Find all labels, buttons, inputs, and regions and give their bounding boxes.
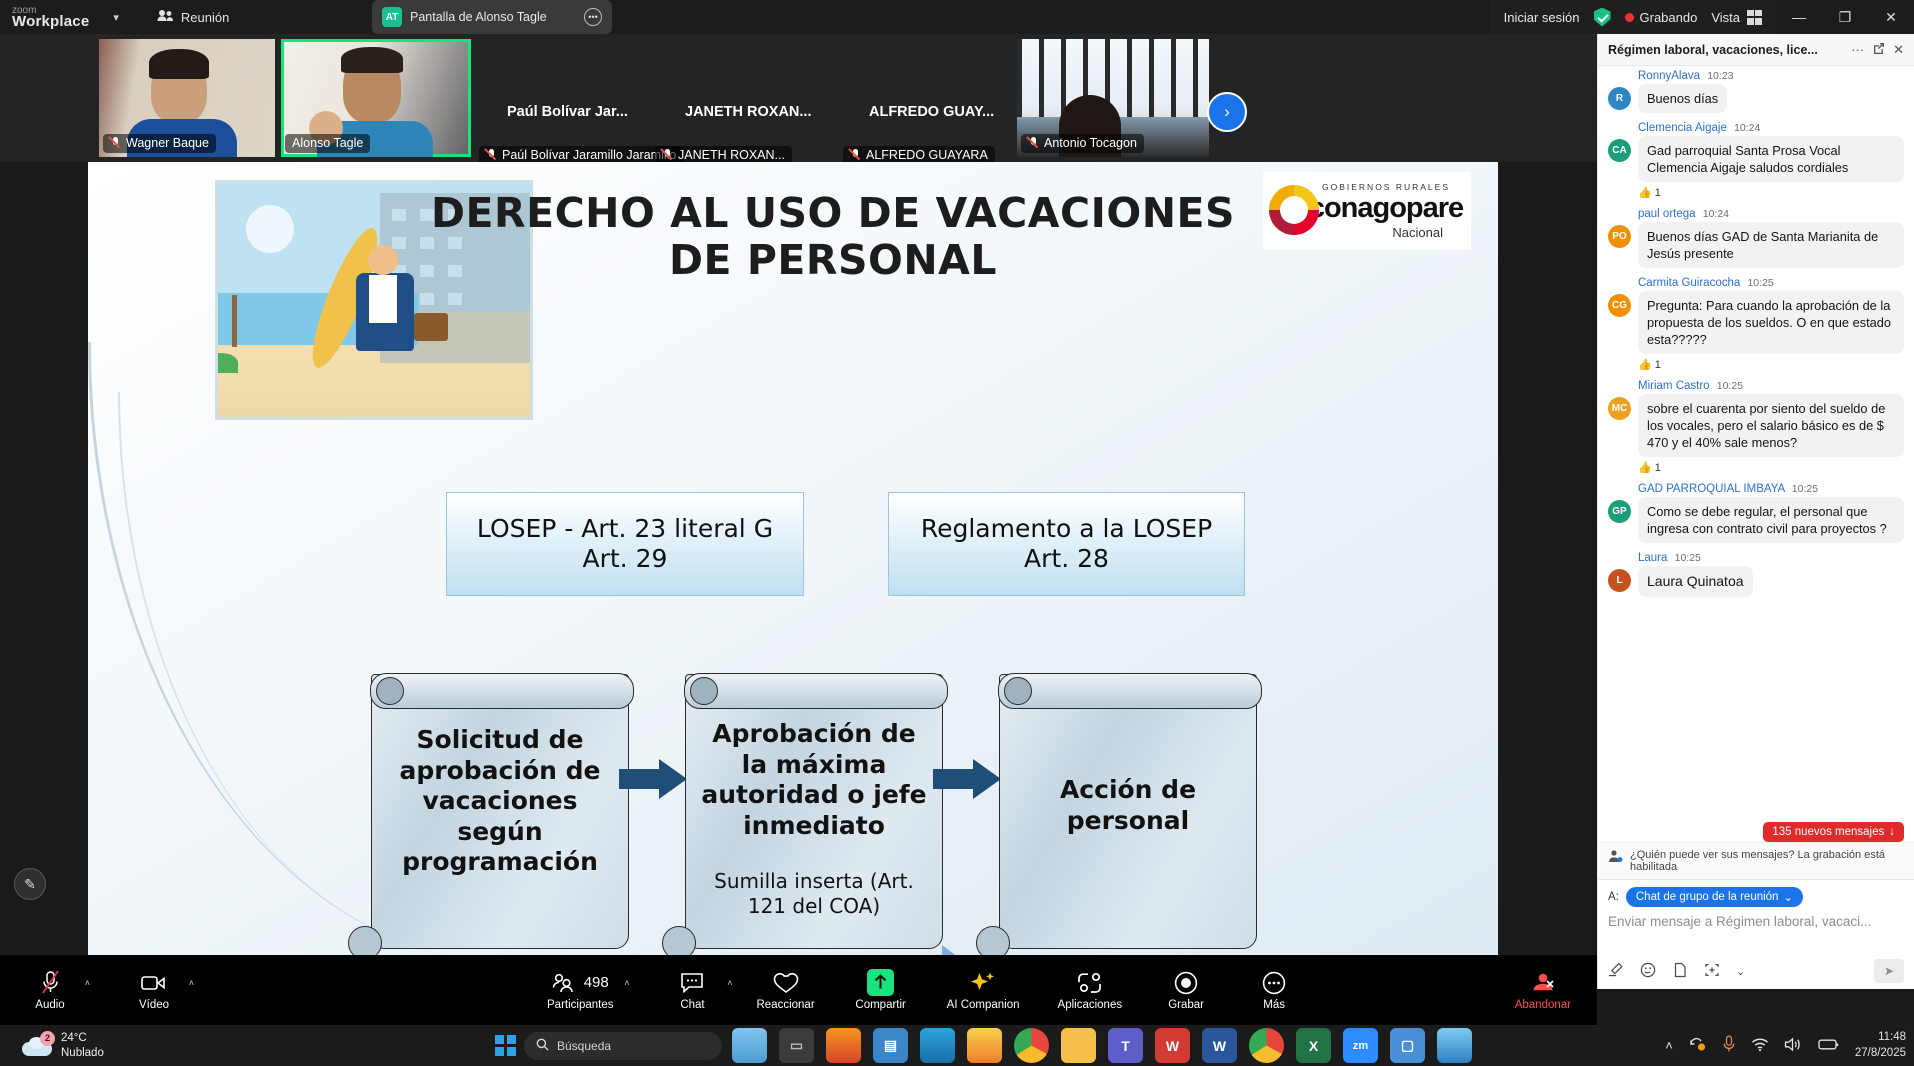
toolbar-react-button[interactable]: Reaccionar [756, 970, 814, 1011]
taskbar-center-group: Búsqueda ▭ ▤ T W W X zm ▢ [495, 1025, 1474, 1066]
down-arrow-icon: ↓ [1889, 826, 1895, 838]
message-author[interactable]: Laura [1638, 552, 1667, 564]
recipient-label: A: [1608, 891, 1619, 903]
share-tab-avatar: AT [382, 7, 402, 27]
toolbar-label: Participantes [547, 999, 613, 1011]
widgets-icon[interactable] [732, 1028, 767, 1063]
new-messages-label: 135 nuevos mensajes [1772, 826, 1884, 838]
excel-icon[interactable]: X [1296, 1028, 1331, 1063]
avatar: CA [1608, 139, 1631, 162]
palm-leaves-shape [215, 353, 238, 373]
chat-more-icon[interactable]: ··· [1851, 42, 1864, 57]
thumbs-up-icon: 👍 [1638, 186, 1652, 199]
video-tile-name-paul[interactable]: Paúl Bolívar Jar... [507, 104, 628, 120]
teams-icon[interactable]: T [1108, 1028, 1143, 1063]
weather-text: 24°C Nublado [61, 1031, 104, 1061]
mic-muted-icon [110, 137, 121, 150]
volume-icon[interactable] [1784, 1037, 1803, 1055]
briefcase-shape [414, 313, 448, 341]
recipient-select[interactable]: Chat de grupo de la reunión ⌄ [1626, 887, 1803, 907]
toolbar-record-button[interactable]: Grabar [1160, 970, 1212, 1011]
meeting-tab[interactable]: Reunión [157, 9, 229, 25]
chat-popout-icon[interactable] [1872, 42, 1885, 58]
person-shirt-shape [369, 275, 397, 323]
toolbar-video-button[interactable]: Vídeo ˄ [128, 970, 180, 1011]
flow-arrow-2-icon [933, 759, 1001, 799]
video-tile-name: Alonso Tagle [285, 134, 370, 153]
title-bar: zoom Workplace ▾ Reunión AT Pantalla de … [0, 0, 1914, 34]
window-icon[interactable]: ▢ [1390, 1028, 1425, 1063]
message-header: Carmita Guiracocha 10:25 [1638, 277, 1904, 289]
folder-icon[interactable] [1061, 1028, 1096, 1063]
emoji-icon[interactable] [1640, 962, 1656, 981]
mic-muted-icon [40, 970, 61, 996]
close-button[interactable]: ✕ [1868, 0, 1914, 34]
taskbar-system-tray: ˄ 11:48 27/8/2025 [1665, 1025, 1906, 1066]
chat-close-icon[interactable]: ✕ [1893, 42, 1904, 58]
view-grid-icon [1747, 10, 1762, 25]
scroll-curl-shape [662, 926, 696, 955]
flow-step-1: Solicitud de aprobación de vacaciones se… [371, 674, 629, 949]
video-tile-antonio[interactable]: Antonio Tocagon [1017, 39, 1209, 157]
mic-muted-icon [662, 149, 673, 162]
message-reaction[interactable]: 👍 1 [1638, 461, 1904, 474]
message-header: paul ortega 10:24 [1638, 208, 1904, 220]
video-tile-alonso[interactable]: Alonso Tagle [281, 39, 471, 157]
avatar: GP [1608, 500, 1631, 523]
message-time: 10:25 [1747, 277, 1773, 289]
heart-icon [773, 970, 799, 996]
sign-in-button[interactable]: Iniciar sesión [1504, 10, 1580, 25]
minimize-button[interactable]: — [1776, 0, 1822, 34]
weather-temp: 24°C [61, 1032, 87, 1044]
scroll-curl-shape [348, 926, 382, 955]
person-head-shape [368, 245, 398, 275]
firefox-icon[interactable] [826, 1028, 861, 1063]
filmstrip-next-button[interactable]: › [1207, 92, 1247, 132]
new-messages-badge[interactable]: 135 nuevos mensajes ↓ [1763, 822, 1904, 842]
sparkle-icon [970, 970, 996, 996]
toolbar-label: Vídeo [139, 999, 169, 1011]
recording-label: Grabando [1640, 10, 1698, 25]
chat-tool-row: ⌄ ➤ [1608, 959, 1904, 983]
message-bubble: Buenos días GAD de Santa Marianita de Je… [1638, 222, 1904, 268]
message-bubble: sobre el cuarenta por siento del sueldo … [1638, 394, 1904, 457]
message-time: 10:25 [1675, 552, 1701, 564]
chevron-up-icon[interactable]: ˄ [85, 978, 90, 988]
battery-icon[interactable] [1818, 1038, 1840, 1054]
annotate-pencil-icon[interactable]: ✎ [14, 868, 46, 900]
message-header: Miriam Castro 10:25 [1638, 380, 1904, 392]
zoom-logo-line2: Workplace [12, 13, 89, 30]
chat-message: GP GAD PARROQUIAL IMBAYA 10:25 Como se d… [1608, 483, 1904, 543]
record-icon [1174, 970, 1198, 996]
meeting-toolbar: Audio ˄ Vídeo ˄ 498 Participantes ˄ Chat… [0, 955, 1597, 1025]
chat-recipient-row: A: Chat de grupo de la reunión ⌄ [1608, 887, 1904, 907]
avatar: PO [1608, 225, 1631, 248]
conagopare-logo-mark-icon [1269, 185, 1319, 235]
message-bubble: Buenos días [1638, 84, 1727, 113]
toolbar-label: Aplicaciones [1058, 999, 1123, 1011]
windows-taskbar: 2 24°C Nublado Búsqueda ▭ ▤ T [0, 1025, 1914, 1066]
toolbar-label: AI Companion [947, 999, 1020, 1011]
chat-privacy-note: ¿Quién puede ver sus mensajes? La grabac… [1598, 842, 1914, 879]
recording-indicator[interactable]: Grabando [1625, 10, 1698, 25]
mic-icon[interactable] [1722, 1035, 1736, 1056]
sun-icon [246, 205, 294, 253]
video-tile-name: Wagner Baque [103, 134, 216, 153]
more-dots-icon [1262, 970, 1286, 996]
flow-step-2: Aprobación de la máxima autoridad o jefe… [685, 674, 943, 949]
logo-kicker: GOBIERNOS RURALES [1301, 182, 1471, 192]
wps-icon[interactable]: W [1155, 1028, 1190, 1063]
toolbar-participants-button[interactable]: 498 Participantes ˄ [547, 970, 613, 1011]
message-author[interactable]: Carmita Guiracocha [1638, 277, 1740, 289]
video-tile-wagner[interactable]: Wagner Baque [99, 39, 275, 157]
avatar: CG [1608, 294, 1631, 317]
toolbar-label: Chat [680, 999, 704, 1011]
chrome-icon[interactable] [1014, 1028, 1049, 1063]
message-time: 10:24 [1734, 122, 1760, 134]
shared-screen-stage: DERECHO AL USO DE VACACIONES DE PERSONAL… [0, 162, 1597, 955]
store-icon[interactable]: ▤ [873, 1028, 908, 1063]
clock-date: 27/8/2025 [1855, 1047, 1906, 1059]
message-time: 10:23 [1707, 70, 1733, 82]
search-placeholder: Búsqueda [557, 1039, 611, 1053]
chat-header: Régimen laboral, vacaciones, lice... ···… [1598, 34, 1914, 66]
toolbar-audio-button[interactable]: Audio ˄ [24, 970, 76, 1011]
chevron-up-icon[interactable]: ˄ [1665, 1038, 1673, 1053]
window-controls: — ❐ ✕ [1776, 0, 1914, 34]
message-author[interactable]: paul ortega [1638, 208, 1696, 220]
record-dot-icon [1625, 13, 1634, 22]
message-bubble: Laura Quinatoa [1638, 566, 1753, 597]
notification-badge: 2 [40, 1031, 55, 1046]
participants-count: 498 [584, 974, 609, 991]
chevron-up-icon[interactable]: ˄ [189, 978, 194, 988]
toolbar-apps-button[interactable]: Aplicaciones [1058, 970, 1123, 1011]
titlebar-right-group: Iniciar sesión Grabando Vista — ❐ ✕ [1490, 0, 1914, 34]
reference-banner-2: Reglamento a la LOSEP Art. 28 [888, 492, 1245, 596]
message-time: 10:24 [1703, 208, 1729, 220]
chevron-up-icon[interactable]: ˄ [727, 978, 732, 988]
toolbar-label: Más [1263, 999, 1285, 1011]
message-time: 10:25 [1792, 483, 1818, 495]
message-author[interactable]: Miriam Castro [1638, 380, 1710, 392]
message-reaction[interactable]: 👍 1 [1638, 358, 1904, 371]
message-bubble: Como se debe regular, el personal que in… [1638, 497, 1904, 543]
flow-step-3-text: Acción de personal [1014, 775, 1242, 836]
reference-banner-1: LOSEP - Art. 23 literal G Art. 29 [446, 492, 804, 596]
toolbar-leave-button[interactable]: Abandonar [1515, 970, 1571, 1011]
chat-icon [680, 970, 704, 996]
share-tab-more-icon[interactable]: ••• [584, 8, 602, 26]
chevron-down-icon: ⌄ [1783, 890, 1793, 904]
chat-title: Régimen laboral, vacaciones, lice... [1608, 43, 1843, 57]
maximize-button[interactable]: ❐ [1822, 0, 1868, 34]
drive-icon[interactable] [967, 1028, 1002, 1063]
taskbar-search[interactable]: Búsqueda [524, 1032, 722, 1060]
flow-step-2-text: Aprobación de la máxima autoridad o jefe… [700, 719, 928, 841]
video-tile-name-janeth[interactable]: JANETH ROXAN... [685, 104, 812, 120]
message-bubble: Gad parroquial Santa Prosa Vocal Clemenc… [1638, 136, 1904, 182]
avatar: R [1608, 87, 1631, 110]
titlebar-chevron-down-icon[interactable]: ▾ [113, 11, 119, 24]
message-header: GAD PARROQUIAL IMBAYA 10:25 [1638, 483, 1904, 495]
message-header: Clemencia Aigaje 10:24 [1638, 122, 1904, 134]
screenshot-icon[interactable] [1704, 962, 1720, 981]
view-button[interactable]: Vista [1711, 10, 1762, 25]
message-author[interactable]: RonnyAlava [1638, 70, 1700, 82]
conagopare-logo: GOBIERNOS RURALES conagopare Nacional [1263, 172, 1471, 250]
message-header: RonnyAlava 10:23 [1638, 70, 1904, 82]
message-header: Laura 10:25 [1638, 552, 1904, 564]
chat-message-list[interactable]: R RonnyAlava 10:23 Buenos días CA Clemen… [1598, 66, 1914, 842]
logo-name: conagopare [1301, 192, 1471, 225]
chevron-down-icon[interactable]: ⌄ [1736, 965, 1745, 978]
mic-muted-icon [850, 149, 861, 162]
message-author[interactable]: GAD PARROQUIAL IMBAYA [1638, 483, 1785, 495]
thumbs-up-icon: 👍 [1638, 358, 1652, 371]
presentation-slide: DERECHO AL USO DE VACACIONES DE PERSONAL… [88, 162, 1498, 955]
person-privacy-icon [1608, 849, 1623, 867]
chat-input[interactable]: Enviar mensaje a Régimen laboral, vacaci… [1608, 914, 1904, 952]
chevron-up-icon[interactable]: ˄ [624, 978, 629, 988]
file-icon[interactable] [1672, 962, 1688, 981]
toolbar-label: Compartir [855, 999, 905, 1011]
privacy-note-text: ¿Quién puede ver sus mensajes? La grabac… [1630, 849, 1904, 873]
sync-icon[interactable] [1688, 1036, 1707, 1056]
share-tab[interactable]: AT Pantalla de Alonso Tagle ••• [372, 0, 612, 34]
recipient-value: Chat de grupo de la reunión [1636, 891, 1779, 903]
video-tile-name: Antonio Tocagon [1021, 134, 1144, 153]
flow-arrow-1-icon [619, 759, 687, 799]
flow-step-3: Acción de personal [999, 674, 1257, 949]
taskbar-weather-widget[interactable]: 2 24°C Nublado [22, 1031, 104, 1061]
mic-muted-icon [1028, 137, 1039, 150]
toolbar-ai-companion-button[interactable]: AI Companion [947, 970, 1020, 1011]
chrome2-icon[interactable] [1249, 1028, 1284, 1063]
chat-composer: A: Chat de grupo de la reunión ⌄ Enviar … [1598, 879, 1914, 989]
photos-icon[interactable] [1437, 1028, 1472, 1063]
video-tile-name-alfredo[interactable]: ALFREDO GUAY... [869, 104, 994, 120]
toolbar-label: Reaccionar [756, 999, 814, 1011]
send-button[interactable]: ➤ [1874, 959, 1904, 983]
clock-time: 11:48 [1878, 1031, 1906, 1043]
reaction-count: 1 [1655, 462, 1661, 474]
share-screen-icon [867, 970, 894, 996]
toolbar-label: Grabar [1168, 999, 1204, 1011]
share-tab-label: Pantalla de Alonso Tagle [410, 10, 547, 24]
security-shield-icon[interactable] [1594, 8, 1611, 27]
zoom-icon[interactable]: zm [1343, 1028, 1378, 1063]
chat-panel: Régimen laboral, vacaciones, lice... ···… [1597, 34, 1914, 989]
zoom-meeting-window: zoom Workplace ▾ Reunión AT Pantalla de … [0, 0, 1914, 1066]
view-label: Vista [1711, 10, 1740, 25]
titlebar-status-group: Iniciar sesión Grabando Vista [1490, 0, 1776, 34]
chat-message: L Laura 10:25 Laura Quinatoa [1608, 552, 1904, 597]
mic-muted-icon [486, 149, 497, 162]
format-icon[interactable] [1608, 962, 1624, 981]
reaction-count: 1 [1655, 187, 1661, 199]
toolbar-share-button[interactable]: Compartir [855, 970, 907, 1011]
chat-message: R RonnyAlava 10:23 Buenos días [1608, 70, 1904, 113]
toolbar-label: Audio [35, 999, 64, 1011]
flow-step-1-text: Solicitud de aprobación de vacaciones se… [386, 725, 614, 878]
meeting-tab-label: Reunión [181, 10, 229, 25]
palm-trunk-shape [232, 295, 237, 347]
participants-icon: 498 [552, 970, 609, 996]
start-button-icon[interactable] [495, 1035, 516, 1056]
slide-title: DERECHO AL USO DE VACACIONES DE PERSONAL [418, 190, 1248, 284]
camera-icon [141, 970, 167, 996]
apps-icon [1077, 970, 1103, 996]
toolbar-label: Abandonar [1515, 999, 1571, 1011]
wifi-icon[interactable] [1751, 1037, 1769, 1055]
chat-message: CG Carmita Guiracocha 10:25 Pregunta: Pa… [1608, 277, 1904, 371]
avatar: L [1608, 569, 1631, 592]
cloud-icon: 2 [22, 1034, 52, 1058]
message-time: 10:25 [1717, 380, 1743, 392]
reaction-count: 1 [1655, 359, 1661, 371]
message-author[interactable]: Clemencia Aigaje [1638, 122, 1727, 134]
edge-icon[interactable] [920, 1028, 955, 1063]
zoom-logo: zoom Workplace [12, 6, 89, 29]
taskbar-clock[interactable]: 11:48 27/8/2025 [1855, 1030, 1906, 1061]
chat-message: PO paul ortega 10:24 Buenos días GAD de … [1608, 208, 1904, 268]
toolbar-chat-button[interactable]: Chat ˄ [666, 970, 718, 1011]
word-icon[interactable]: W [1202, 1028, 1237, 1063]
file-explorer-icon[interactable]: ▭ [779, 1028, 814, 1063]
flow-step-2-subtext: Sumilla inserta (Art. 121 del COA) [696, 869, 932, 918]
message-reaction[interactable]: 👍 1 [1638, 186, 1904, 199]
message-bubble: Pregunta: Para cuando la aprobación de l… [1638, 291, 1904, 354]
chat-message: MC Miriam Castro 10:25 sobre el cuarenta… [1608, 380, 1904, 474]
participants-group-icon [157, 9, 174, 25]
leave-icon [1531, 970, 1555, 996]
search-icon [536, 1038, 549, 1054]
chat-message: CA Clemencia Aigaje 10:24 Gad parroquial… [1608, 122, 1904, 199]
toolbar-more-button[interactable]: Más [1248, 970, 1300, 1011]
avatar: MC [1608, 397, 1631, 420]
thumbs-up-icon: 👍 [1638, 461, 1652, 474]
weather-desc: Nublado [61, 1047, 104, 1059]
